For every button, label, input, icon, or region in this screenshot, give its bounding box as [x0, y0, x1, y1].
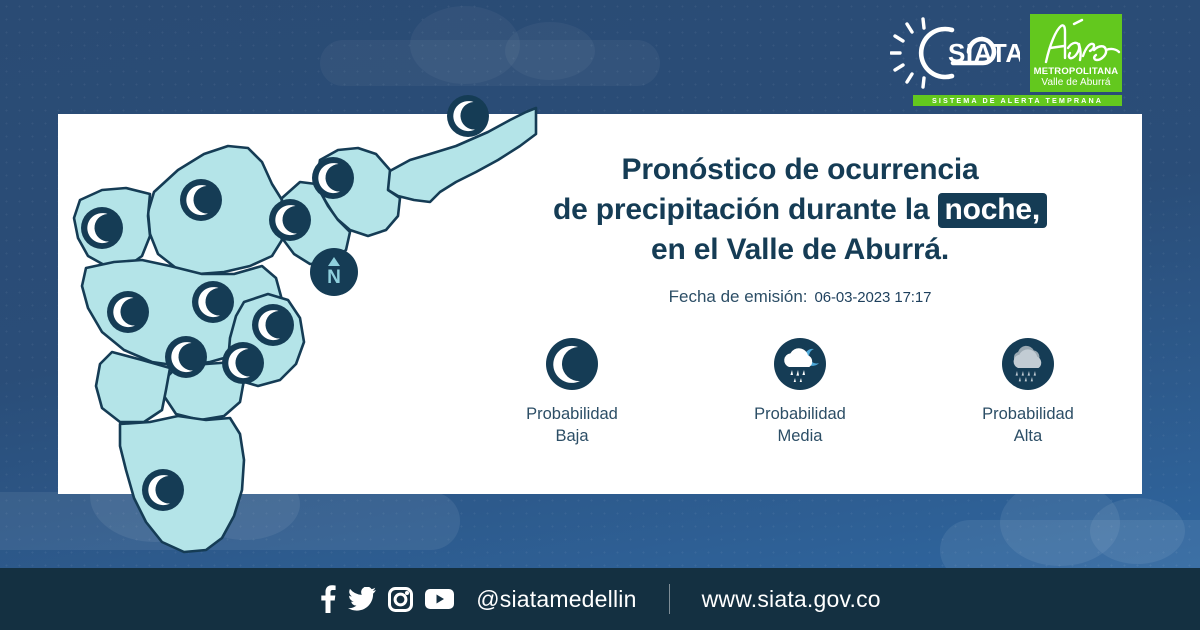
area-sub1: METROPOLITANA — [1034, 67, 1119, 77]
title-line-3: en el Valle de Aburrá. — [470, 230, 1130, 270]
facebook-icon[interactable] — [319, 585, 336, 613]
map-marker-moon — [252, 304, 294, 346]
map-marker-moon — [312, 157, 354, 199]
cloud-moon-rain-icon — [773, 337, 827, 391]
map-marker-moon — [165, 336, 207, 378]
issue-date-value: 06-03-2023 17:17 — [815, 289, 932, 306]
twitter-icon[interactable] — [348, 587, 376, 611]
legend-label-baja: Probabilidad Baja — [526, 403, 618, 448]
legend-item-media: Probabilidad Media — [715, 337, 885, 448]
siata-tagline-bar: SISTEMA DE ALERTA TEMPRANA — [913, 95, 1122, 106]
legend-label-media: Probabilidad Media — [754, 403, 846, 448]
north-label: N — [327, 267, 341, 288]
footer-bar: @siatamedellin www.siata.gov.co — [0, 568, 1200, 630]
siata-tagline: SISTEMA DE ALERTA TEMPRANA — [932, 96, 1103, 105]
probability-legend: Probabilidad Baja Probabilidad Media — [470, 337, 1130, 448]
map-marker-moon — [107, 291, 149, 333]
social-icons — [319, 585, 454, 613]
legend-item-baja: Probabilidad Baja — [487, 337, 657, 448]
legend-label-alta: Probabilidad Alta — [982, 403, 1074, 448]
cloud-heavy-rain-icon — [1001, 337, 1055, 391]
siata-wordmark: SIATA — [948, 38, 1020, 68]
map-marker-moon — [447, 95, 489, 137]
page-title: Pronóstico de ocurrencia de precipitació… — [470, 150, 1130, 270]
area-metropolitana-logo: METROPOLITANA Valle de Aburrá — [1030, 14, 1122, 92]
youtube-icon[interactable] — [425, 588, 454, 610]
map-marker-moon — [180, 179, 222, 221]
north-arrow-icon: N — [310, 248, 358, 296]
social-handle[interactable]: @siatamedellin — [476, 586, 636, 613]
issue-date-label: Fecha de emisión: — [669, 287, 808, 307]
map-marker-moon — [222, 342, 264, 384]
legend-item-alta: Probabilidad Alta — [943, 337, 1113, 448]
moon-icon — [545, 337, 599, 391]
title-line-2: de precipitación durante la noche, — [470, 190, 1130, 230]
instagram-icon[interactable] — [388, 587, 413, 612]
valle-de-aburra-map: N — [58, 50, 538, 570]
area-script-mark — [1030, 18, 1122, 66]
title-highlight-noche: noche, — [938, 193, 1047, 229]
map-svg: N — [58, 50, 538, 570]
map-marker-moon — [192, 281, 234, 323]
issue-date-line: Fecha de emisión: 06-03-2023 17:17 — [470, 287, 1130, 307]
title-line-1: Pronóstico de ocurrencia — [470, 150, 1130, 190]
siata-logo: SIATA — [890, 17, 1020, 89]
footer-divider — [669, 584, 670, 614]
forecast-content: Pronóstico de ocurrencia de precipitació… — [470, 150, 1130, 447]
map-marker-moon — [142, 469, 184, 511]
header-logos: SIATA METROPOLITANA Valle de Aburrá S — [890, 14, 1122, 106]
map-marker-moon — [269, 199, 311, 241]
title-line-2-text: de precipitación durante la — [553, 193, 929, 226]
map-marker-moon — [81, 207, 123, 249]
website-url[interactable]: www.siata.gov.co — [702, 586, 881, 613]
area-sub2: Valle de Aburrá — [1041, 77, 1110, 89]
